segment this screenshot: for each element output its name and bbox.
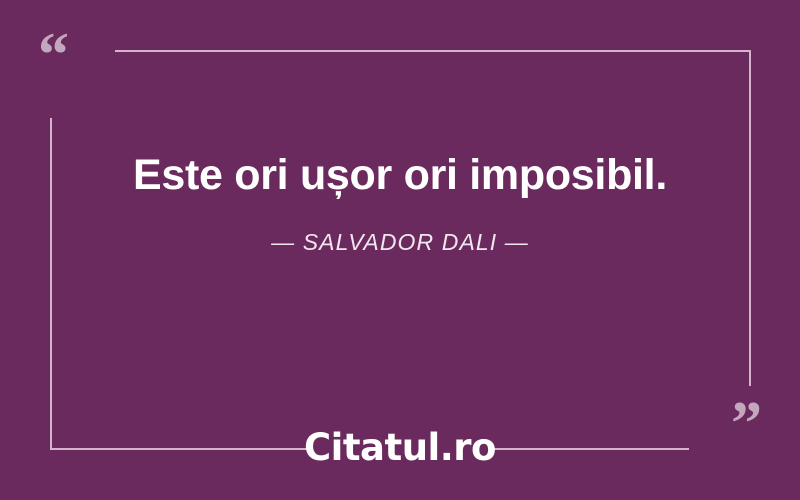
opening-quote-icon: “ (38, 24, 69, 86)
site-logo-text: Citatul.ro (304, 424, 496, 472)
quote-author: — SALVADOR DALI — (50, 201, 750, 256)
quote-text: Este ori ușor ori imposibil. (50, 150, 750, 201)
frame-top-line (115, 50, 751, 52)
quote-body: Este ori ușor ori imposibil. — SALVADOR … (50, 150, 750, 256)
quote-card: “ ” Este ori ușor ori imposibil. — SALVA… (0, 0, 800, 500)
site-logo[interactable]: Citatul.ro (0, 424, 800, 472)
